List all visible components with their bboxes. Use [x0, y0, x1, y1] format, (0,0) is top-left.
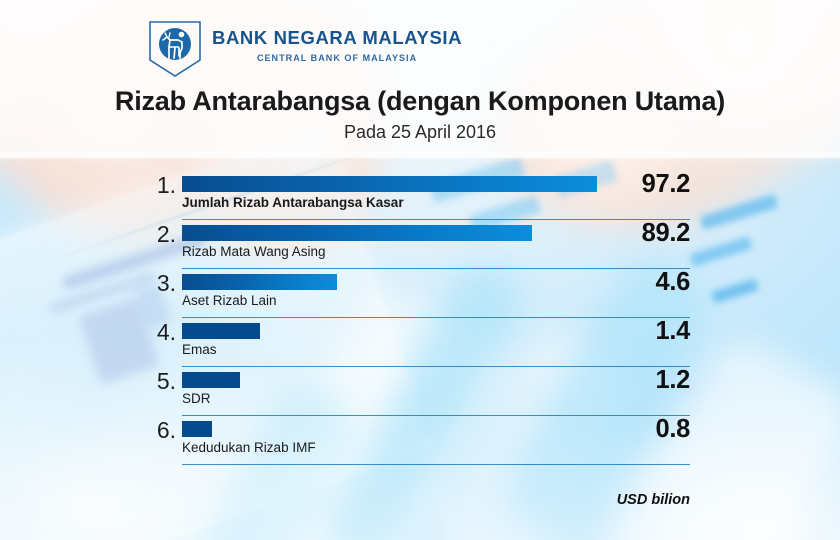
unit-note: USD bilion [617, 492, 690, 508]
page-subtitle: Pada 25 April 2016 [0, 122, 840, 143]
table-row: 5. SDR 1.2 [0, 367, 840, 416]
row-label: Aset Rizab Lain [182, 294, 277, 308]
row-rank: 5. [150, 370, 176, 393]
row-rank: 4. [150, 321, 176, 344]
row-rank: 2. [150, 223, 176, 246]
logo-text-block: BANK NEGARA MALAYSIA CENTRAL BANK OF MAL… [212, 20, 462, 63]
row-value: 1.2 [655, 365, 690, 396]
row-rank: 1. [150, 174, 176, 197]
row-label: Rizab Mata Wang Asing [182, 245, 326, 259]
table-row: 6. Kedudukan Rizab IMF 0.8 [0, 416, 840, 465]
row-rank: 3. [150, 272, 176, 295]
row-value: 1.4 [655, 316, 690, 347]
row-bar [182, 421, 212, 437]
row-value: 0.8 [655, 414, 690, 445]
row-bar [182, 274, 337, 290]
bnm-shield-tiger-logo-icon [148, 20, 202, 78]
bank-logo-lockup: BANK NEGARA MALAYSIA CENTRAL BANK OF MAL… [148, 20, 462, 78]
row-label: Emas [182, 343, 217, 357]
row-label: Jumlah Rizab Antarabangsa Kasar [182, 196, 404, 210]
bank-tagline: CENTRAL BANK OF MALAYSIA [212, 53, 462, 63]
infographic-canvas: BANK NEGARA MALAYSIA CENTRAL BANK OF MAL… [0, 0, 840, 540]
row-value: 97.2 [642, 169, 690, 200]
table-row: 2. Rizab Mata Wang Asing 89.2 [0, 220, 840, 269]
bank-name: BANK NEGARA MALAYSIA [212, 29, 462, 48]
row-bar [182, 323, 260, 339]
table-row: 1. Jumlah Rizab Antarabangsa Kasar 97.2 [0, 171, 840, 220]
row-label: SDR [182, 392, 211, 406]
row-bar [182, 176, 597, 192]
row-label: Kedudukan Rizab IMF [182, 441, 316, 455]
table-row: 4. Emas 1.4 [0, 318, 840, 367]
row-bar [182, 372, 240, 388]
page-title: Rizab Antarabangsa (dengan Komponen Utam… [0, 86, 840, 117]
table-row: 3. Aset Rizab Lain 4.6 [0, 269, 840, 318]
row-rank: 6. [150, 419, 176, 442]
row-value: 4.6 [655, 267, 690, 298]
row-value: 89.2 [642, 218, 690, 249]
row-separator [182, 464, 690, 465]
infographic-content: BANK NEGARA MALAYSIA CENTRAL BANK OF MAL… [0, 0, 840, 540]
row-bar [182, 225, 532, 241]
reserves-bar-list: 1. Jumlah Rizab Antarabangsa Kasar 97.2 … [0, 171, 840, 465]
